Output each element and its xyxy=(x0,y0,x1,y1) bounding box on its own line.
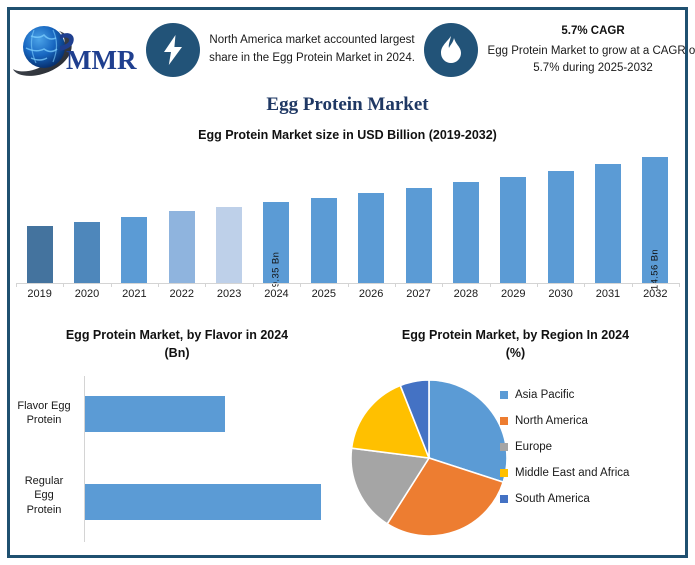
svg-text:MMR: MMR xyxy=(66,45,137,75)
flavor-chart-title: Egg Protein Market, by Flavor in 2024 (B… xyxy=(12,326,342,362)
bars-area: 9.35 Bn14.56 Bn xyxy=(16,145,679,283)
flavor-chart-title-line1: Egg Protein Market, by Flavor in 2024 xyxy=(66,328,288,342)
legend-item-north-america[interactable]: North America xyxy=(500,408,685,434)
x-axis-label-2022: 2022 xyxy=(159,288,205,300)
x-axis-label-2026: 2026 xyxy=(348,288,394,300)
legend-swatch-icon xyxy=(500,443,508,451)
bar-flavor-egg-protein xyxy=(85,396,225,432)
x-tick xyxy=(348,283,349,287)
x-tick xyxy=(111,283,112,287)
bar-2020 xyxy=(74,222,100,283)
bar-2031 xyxy=(595,164,621,283)
x-tick xyxy=(584,283,585,287)
legend-label: Europe xyxy=(515,441,552,453)
region-chart-title: Egg Protein Market, by Region In 2024 (%… xyxy=(348,326,683,362)
flavor-label-line2: Protein xyxy=(27,414,62,426)
pie-svg xyxy=(348,372,508,544)
header-bar: MMR North America market accounted large… xyxy=(10,10,685,90)
lightning-bolt-icon xyxy=(158,33,188,67)
x-axis-label-2031: 2031 xyxy=(585,288,631,300)
x-axis-labels: 2019202020212022202320242025202620272028… xyxy=(16,288,679,304)
market-size-chart-title: Egg Protein Market size in USD Billion (… xyxy=(0,128,695,142)
x-axis-label-2025: 2025 xyxy=(301,288,347,300)
legend-label: South America xyxy=(515,493,590,505)
legend-item-europe[interactable]: Europe xyxy=(500,434,685,460)
x-tick xyxy=(300,283,301,287)
x-tick xyxy=(205,283,206,287)
x-axis-label-2032: 2032 xyxy=(632,288,678,300)
x-axis-label-2019: 2019 xyxy=(17,288,63,300)
regular-label-line3: Protein xyxy=(27,504,62,516)
label-regular-egg-protein: Regular Egg Protein xyxy=(10,474,78,517)
legend-label: North America xyxy=(515,415,588,427)
x-tick xyxy=(442,283,443,287)
legend-swatch-icon xyxy=(500,391,508,399)
x-tick xyxy=(158,283,159,287)
header-note-text: North America market accounted largest s… xyxy=(206,32,418,68)
x-axis-label-2023: 2023 xyxy=(206,288,252,300)
legend-item-middle-east-and-africa[interactable]: Middle East and Africa xyxy=(500,460,685,486)
legend-item-south-america[interactable]: South America xyxy=(500,486,685,512)
regular-label-line2: Egg xyxy=(34,489,54,501)
cagr-title: 5.7% CAGR xyxy=(484,23,695,40)
flavor-bar-chart: Egg Protein Market, by Flavor in 2024 (B… xyxy=(12,326,342,556)
pie-area xyxy=(348,372,508,544)
region-chart-title-line1: Egg Protein Market, by Region In 2024 xyxy=(402,328,629,342)
legend-label: Asia Pacific xyxy=(515,389,574,401)
x-axis-label-2029: 2029 xyxy=(490,288,536,300)
x-tick xyxy=(679,283,680,287)
bar-2021 xyxy=(121,217,147,283)
pie-legend: Asia PacificNorth AmericaEuropeMiddle Ea… xyxy=(500,382,685,512)
bar-regular-egg-protein xyxy=(85,484,321,520)
bar-2030 xyxy=(548,171,574,283)
x-axis-label-2020: 2020 xyxy=(64,288,110,300)
x-tick xyxy=(63,283,64,287)
x-tick xyxy=(537,283,538,287)
legend-swatch-icon xyxy=(500,495,508,503)
legend-item-asia-pacific[interactable]: Asia Pacific xyxy=(500,382,685,408)
flavor-plot-area: Flavor Egg Protein Regular Egg Protein xyxy=(12,370,342,550)
bar-2019 xyxy=(27,226,53,283)
region-pie-chart: Egg Protein Market, by Region In 2024 (%… xyxy=(348,326,683,556)
x-tick xyxy=(632,283,633,287)
market-size-bar-chart: 9.35 Bn14.56 Bn 201920202021202220232024… xyxy=(16,145,679,300)
region-chart-title-line2: (%) xyxy=(506,346,525,360)
legend-swatch-icon xyxy=(500,469,508,477)
legend-swatch-icon xyxy=(500,417,508,425)
flavor-chart-title-line2: (Bn) xyxy=(165,346,190,360)
flame-badge xyxy=(424,23,478,77)
bar-2032: 14.56 Bn xyxy=(642,157,668,283)
x-axis-label-2021: 2021 xyxy=(111,288,157,300)
regular-label-line1: Regular xyxy=(25,475,64,487)
bar-2029 xyxy=(500,177,526,283)
cagr-description: Egg Protein Market to grow at a CAGR of … xyxy=(484,43,695,78)
cagr-text-block: 5.7% CAGR Egg Protein Market to grow at … xyxy=(484,23,695,78)
x-axis-label-2027: 2027 xyxy=(396,288,442,300)
label-flavor-egg-protein: Flavor Egg Protein xyxy=(10,399,78,428)
page-title: Egg Protein Market xyxy=(0,94,695,116)
bar-2023 xyxy=(216,207,242,283)
x-axis-label-2028: 2028 xyxy=(443,288,489,300)
flavor-label-line1: Flavor Egg xyxy=(17,400,70,412)
x-tick xyxy=(16,283,17,287)
legend-label: Middle East and Africa xyxy=(515,467,629,479)
infographic-root: MMR North America market accounted large… xyxy=(0,0,695,565)
bar-value-label-2024: 9.35 Bn xyxy=(271,252,282,288)
bar-2027 xyxy=(406,188,432,283)
bar-2026 xyxy=(358,193,384,283)
bar-2024: 9.35 Bn xyxy=(263,202,289,283)
x-tick xyxy=(395,283,396,287)
lightning-bolt-badge xyxy=(146,23,200,77)
x-axis-label-2030: 2030 xyxy=(538,288,584,300)
bar-2028 xyxy=(453,182,479,283)
bar-2022 xyxy=(169,211,195,283)
flame-icon xyxy=(438,34,464,66)
x-axis-label-2024: 2024 xyxy=(253,288,299,300)
mmr-globe-logo: MMR xyxy=(10,15,140,85)
bar-2025 xyxy=(311,198,337,283)
x-tick xyxy=(253,283,254,287)
x-tick xyxy=(490,283,491,287)
